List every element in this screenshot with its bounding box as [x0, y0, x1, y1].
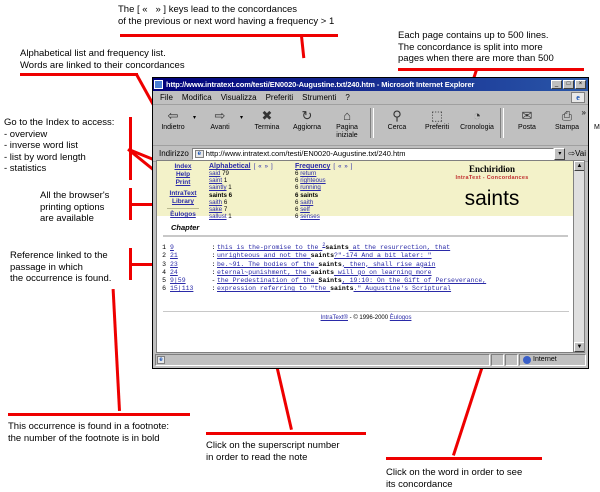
annotation-clickword: Click on the word in order to see its co… [386, 467, 522, 490]
toolbar-label-search: Cerca [388, 124, 407, 132]
freq-count-2: 6 [295, 184, 298, 191]
annotation-printing: All the browser's printing options are a… [40, 190, 109, 225]
line-text: unrighteous and not the saints?"-174 And… [217, 252, 579, 260]
annotation-reference: Reference linked to the passage in which… [10, 250, 111, 285]
list-item[interactable]: saith 6 [209, 199, 287, 206]
toolbar-label-forward: Avanti [210, 124, 229, 132]
toolbar-button-home[interactable]: ⌂ Pagina iniziale [327, 107, 367, 139]
annotation-footnote-leader [112, 289, 121, 411]
annotation-alpha-freq: Alphabetical list and frequency list. Wo… [20, 48, 185, 71]
favorites-icon: ⬚ [431, 107, 443, 124]
list-item[interactable]: sake 7 [209, 206, 287, 213]
alpha-count-4: 6 [224, 199, 227, 206]
reference-link[interactable]: 24 [170, 269, 178, 276]
context-before[interactable]: the Predestination of the [217, 277, 318, 284]
context-before[interactable]: expression referring to "the [217, 285, 330, 292]
alpha-count-1: 1 [224, 177, 227, 184]
line-reference-footnote[interactable]: 15|113 [166, 285, 210, 293]
toolbar-button-edit[interactable]: ▤ Modifica [587, 107, 600, 132]
alphabetical-prev-icon[interactable]: [ [254, 164, 256, 170]
context-after[interactable]: , 19:10: On the Gift of Perseverance, [342, 277, 486, 284]
line-colon: : [210, 269, 217, 277]
toolbar-separator-1 [370, 108, 374, 138]
reference-link[interactable]: 9 [170, 244, 174, 251]
status-message-panel: e [155, 354, 490, 366]
footer-copyright: - © 1996-2000 [348, 315, 390, 321]
alpha-count-0: 79 [222, 170, 229, 177]
alpha-word-1[interactable]: saint [209, 177, 222, 184]
freq-word-6[interactable]: senses [300, 213, 320, 220]
back-dropdown-icon[interactable]: ▾ [193, 107, 200, 121]
line-index: 1 [159, 244, 166, 252]
toolbar-button-refresh[interactable]: ↻ Aggiorna [287, 107, 327, 132]
line-index: 3 [159, 261, 166, 269]
list-item[interactable]: saintly 1 [209, 184, 287, 191]
alphabetical-header: Alphabetical [ « » ] [209, 163, 287, 170]
annotation-pages-rule [398, 68, 584, 71]
menu-item-modifica[interactable]: Modifica [182, 93, 212, 102]
line-text: the Predestination of the Saints, 19:10:… [217, 277, 579, 285]
list-item[interactable]: 6 return [295, 170, 373, 177]
toolbar-button-forward[interactable]: ⇨ Avanti [200, 107, 240, 132]
window-title: http://www.intratext.com/testi/EN0020-Au… [166, 80, 551, 89]
alpha-count-3: 6 [229, 192, 232, 199]
toolbar-button-search[interactable]: ⚲ Cerca [377, 107, 417, 132]
toolbar-label-mail: Posta [518, 124, 536, 132]
toolbar-label-back: Indietro [161, 124, 184, 132]
context-after[interactable]: will go on learning more [334, 269, 432, 276]
freq-count-5: 6 [295, 206, 298, 213]
frequency-prev-icon[interactable]: [ [333, 164, 335, 170]
list-item[interactable]: said 79 [209, 170, 287, 177]
context-after[interactable]: ?"-174 And a bit later: " [334, 252, 432, 259]
status-panel-1 [491, 354, 504, 366]
annotation-keys-rule [120, 34, 338, 37]
context-before[interactable]: be.~91. The bodies of the [217, 261, 318, 268]
sidebar-item-intratext[interactable]: IntraText [161, 190, 205, 198]
history-icon: ◔ [473, 107, 481, 124]
alphabetical-next-button[interactable]: » [265, 164, 268, 170]
go-label: Vai [575, 149, 586, 158]
alpha-word-6[interactable]: sallust [209, 213, 227, 220]
footer-company-link[interactable]: Èulogos [390, 315, 412, 321]
freq-word-1[interactable]: righteous [300, 177, 325, 184]
reference-link[interactable]: 23 [170, 261, 178, 268]
annotation-keys-leader [301, 36, 306, 58]
keyword: saints [318, 261, 341, 268]
freq-word-0[interactable]: return [300, 170, 316, 177]
line-index: 5 [159, 277, 166, 285]
stop-icon: ✖ [262, 107, 273, 124]
annotation-superscript: Click on the superscript number in order… [206, 440, 340, 463]
page-viewport: Index Help Print IntraText Library Èulog… [156, 160, 585, 353]
footer-brand-link[interactable]: IntraText® [321, 315, 348, 321]
line-colon: : [210, 244, 217, 252]
sidebar-item-eulogos[interactable]: Èulogos [161, 211, 205, 219]
line-reference[interactable]: 21 [166, 252, 210, 260]
refresh-icon: ↻ [302, 107, 313, 124]
context-after[interactable]: at the resurrection, that [349, 244, 450, 251]
title-bar: http://www.intratext.com/testi/EN0020-Au… [153, 78, 588, 91]
line-text: be.~91. The bodies of the saints, then, … [217, 261, 579, 269]
line-reference[interactable]: 24 [166, 269, 210, 277]
frequency-prev-button[interactable]: « [338, 164, 341, 170]
annotation-index: Go to the Index to access: - overview - … [4, 117, 114, 175]
page-title-block: Enchiridion IntraText - Concordances sai… [412, 164, 572, 210]
go-button[interactable]: ⇨Vai [568, 149, 586, 158]
alpha-count-5: 7 [224, 206, 227, 213]
table-row: 3 23 : be.~91. The bodies of the saints,… [159, 261, 579, 269]
frequency-title[interactable]: Frequency [295, 163, 330, 170]
line-text: expression referring to "the saints." Au… [217, 285, 579, 293]
alpha-count-6: 1 [228, 213, 231, 220]
freq-word-5[interactable]: self [300, 206, 310, 213]
alpha-word-4[interactable]: saith [209, 199, 222, 206]
sidebar-item-print[interactable]: Print [161, 179, 205, 187]
page-footer: IntraText® - © 1996-2000 Èulogos [157, 311, 575, 321]
back-arrow-icon: ⇦ [168, 107, 179, 124]
maximize-button[interactable]: □ [563, 80, 574, 89]
annotation-keys: The [ « » ] keys lead to the concordance… [118, 4, 334, 27]
frequency-list: Frequency [ « » ] 6 return 6 righteous 6… [295, 163, 373, 220]
table-row: 6 15|113 : expression referring to "the … [159, 285, 579, 293]
annotation-footnote-rule [8, 413, 190, 416]
search-icon: ⚲ [392, 107, 402, 124]
context-after[interactable]: ." Augustine's Scriptural [354, 285, 452, 292]
sidebar-item-library[interactable]: Library [161, 198, 205, 206]
list-item[interactable]: 6 running [295, 184, 373, 191]
alpha-word-3: saints [209, 192, 227, 199]
word-lists: Alphabetical [ « » ] said 79 saint 1 sai… [209, 163, 373, 220]
toolbar-separator-2 [500, 108, 504, 138]
alphabetical-list: Alphabetical [ « » ] said 79 saint 1 sai… [209, 163, 287, 220]
forward-dropdown-icon[interactable]: ▾ [240, 107, 247, 121]
freq-count-1: 6 [295, 177, 298, 184]
list-item-current: 6 saints [295, 192, 373, 199]
list-item[interactable]: 6 senses [295, 213, 373, 220]
context-before[interactable]: unrighteous and not the [217, 252, 311, 259]
table-row: 5 9|59 - the Predestination of the Saint… [159, 277, 579, 285]
toolbar-overflow-icon[interactable]: » [582, 108, 586, 117]
line-reference[interactable]: 9 [166, 244, 210, 252]
annotation-footnote: This occurrence is found in a footnote: … [8, 421, 169, 444]
frequency-header: Frequency [ « » ] [295, 163, 373, 170]
freq-word-2[interactable]: running [300, 184, 321, 191]
freq-count-3: 6 [295, 192, 298, 199]
freq-word-3: saints [300, 192, 318, 199]
page-scrollbar[interactable]: ▲ ▼ [573, 161, 584, 352]
menu-item-visualizza[interactable]: Visualizza [221, 93, 257, 102]
concordance-page: Index Help Print IntraText Library Èulog… [157, 161, 584, 352]
status-page-icon: e [157, 356, 165, 364]
list-item[interactable]: sallust 1 [209, 213, 287, 220]
line-index: 6 [159, 285, 166, 293]
minimize-button[interactable]: _ [551, 80, 562, 89]
toolbar-label-edit: Modifica [594, 124, 600, 132]
sidebar-divider [167, 208, 199, 209]
toolbar-label-print: Stampa [555, 124, 579, 132]
browser-window: http://www.intratext.com/testi/EN0020-Au… [152, 77, 589, 369]
context-after[interactable]: , then, shall rise again [342, 261, 436, 268]
footer-divider [163, 311, 569, 312]
close-button[interactable]: × [575, 80, 586, 89]
page-sidebar: Index Help Print IntraText Library Èulog… [161, 163, 205, 219]
sidebar-item-help[interactable]: Help [161, 171, 205, 179]
list-item[interactable]: 6 saith [295, 199, 373, 206]
toolbar-label-home: Pagina iniziale [336, 124, 358, 139]
line-colon: : [210, 252, 217, 260]
chapter-divider [163, 235, 568, 237]
forward-arrow-icon: ⇨ [215, 107, 226, 124]
line-colon: - [210, 277, 217, 285]
menu-item-strumenti[interactable]: Strumenti [302, 93, 336, 102]
address-label: Indirizzo [159, 149, 189, 158]
alpha-word-5[interactable]: sake [209, 206, 222, 213]
freq-count-4: 6 [295, 199, 298, 206]
toolbar-label-refresh: Aggiorna [293, 124, 321, 132]
scroll-up-icon[interactable]: ▲ [574, 161, 585, 171]
address-value: http://www.intratext.com/testi/EN0020-Au… [206, 149, 406, 158]
reference-link[interactable]: 21 [170, 252, 178, 259]
line-text: eternal~punishment, the saints will go o… [217, 269, 579, 277]
list-item-current: saints 6 [209, 192, 287, 199]
address-dropdown-icon[interactable]: ▾ [554, 148, 565, 160]
line-index: 2 [159, 252, 166, 260]
alpha-count-2: 1 [228, 184, 231, 191]
toolbar-button-mail[interactable]: ✉ Posta [507, 107, 547, 132]
toolbar-button-favorites[interactable]: ⬚ Preferiti [417, 107, 457, 132]
print-icon: ⎙ [562, 107, 572, 124]
line-index: 4 [159, 269, 166, 277]
list-item[interactable]: 6 righteous [295, 177, 373, 184]
alpha-word-2[interactable]: saintly [209, 184, 227, 191]
frequency-next-button[interactable]: » [344, 164, 347, 170]
menu-item-help[interactable]: ? [345, 93, 349, 102]
alphabetical-title[interactable]: Alphabetical [209, 163, 251, 170]
alphabetical-next-icon[interactable]: ] [271, 164, 273, 170]
line-reference[interactable]: 9|59 [166, 277, 210, 285]
list-item[interactable]: 6 self [295, 206, 373, 213]
annotation-clickword-rule [386, 457, 542, 460]
page-favicon-icon: e [195, 150, 204, 158]
window-controls: _ □ × [551, 80, 586, 89]
alpha-word-0[interactable]: said [209, 170, 220, 177]
status-panel-2 [505, 354, 518, 366]
concordance-list: 1 9 : this is the-promise to the 2saints… [159, 241, 579, 293]
line-colon: : [210, 285, 217, 293]
context-before[interactable]: this is the-promise to the [217, 244, 322, 251]
chapter-heading: Chapter [171, 223, 199, 232]
annotation-superscript-rule [206, 432, 366, 435]
toolbar: ⇦ Indietro ▾ ⇨ Avanti ▾ ✖ Termina ↻ Aggi… [153, 105, 588, 146]
table-row: 4 24 : eternal~punishment, the saints wi… [159, 269, 579, 277]
freq-word-4[interactable]: saith [300, 199, 313, 206]
toolbar-label-history: Cronologia [460, 124, 494, 132]
reference-link[interactable]: 15|113 [170, 285, 193, 292]
frequency-next-icon[interactable]: ] [351, 164, 353, 170]
annotation-alpha-rule [20, 73, 138, 76]
status-zone-panel: Internet [519, 354, 586, 366]
keyword: saints [325, 244, 348, 251]
context-before[interactable]: eternal~punishment, the [217, 269, 311, 276]
scroll-down-icon[interactable]: ▼ [574, 342, 585, 352]
internet-zone-icon [523, 356, 531, 364]
menu-bar: File Modifica Visualizza Preferiti Strum… [153, 91, 588, 105]
ie-logo-icon [571, 92, 585, 103]
status-bar: e Internet [155, 353, 586, 366]
page-subtitle: IntraText - Concordances [412, 175, 572, 181]
annotation-pages: Each page contains up to 500 lines. The … [398, 30, 554, 65]
toolbar-label-favorites: Preferiti [425, 124, 449, 132]
toolbar-button-history[interactable]: ◔ Cronologia [457, 107, 497, 132]
mail-icon: ✉ [522, 107, 533, 124]
book-title: Enchiridion [412, 164, 572, 174]
freq-count-6: 6 [295, 213, 298, 220]
alphabetical-prev-button[interactable]: « [258, 164, 261, 170]
keyword: Saints [318, 277, 341, 284]
keyword: saints [311, 252, 334, 259]
footer-text: IntraText® - © 1996-2000 Èulogos [157, 315, 575, 321]
ie-document-icon [154, 80, 163, 89]
toolbar-button-back[interactable]: ⇦ Indietro [153, 107, 193, 132]
reference-link[interactable]: 9|59 [170, 277, 186, 284]
home-icon: ⌂ [343, 107, 351, 124]
list-item[interactable]: saint 1 [209, 177, 287, 184]
address-input[interactable]: e http://www.intratext.com/testi/EN0020-… [192, 148, 555, 160]
menu-item-file[interactable]: File [160, 93, 173, 102]
toolbar-button-stop[interactable]: ✖ Termina [247, 107, 287, 132]
table-row: 2 21 : unrighteous and not the saints?"-… [159, 252, 579, 260]
table-row: 1 9 : this is the-promise to the 2saints… [159, 241, 579, 252]
menu-item-preferiti[interactable]: Preferiti [266, 93, 294, 102]
line-text: this is the-promise to the 2saints at th… [217, 241, 579, 252]
sidebar-item-index[interactable]: Index [161, 163, 205, 171]
line-colon: : [210, 261, 217, 269]
toolbar-label-stop: Termina [255, 124, 280, 132]
line-reference[interactable]: 23 [166, 261, 210, 269]
headword: saints [412, 188, 572, 210]
keyword: saints [330, 285, 353, 292]
keyword: saints [311, 269, 334, 276]
status-zone-label: Internet [533, 356, 557, 363]
freq-count-0: 6 [295, 170, 298, 177]
